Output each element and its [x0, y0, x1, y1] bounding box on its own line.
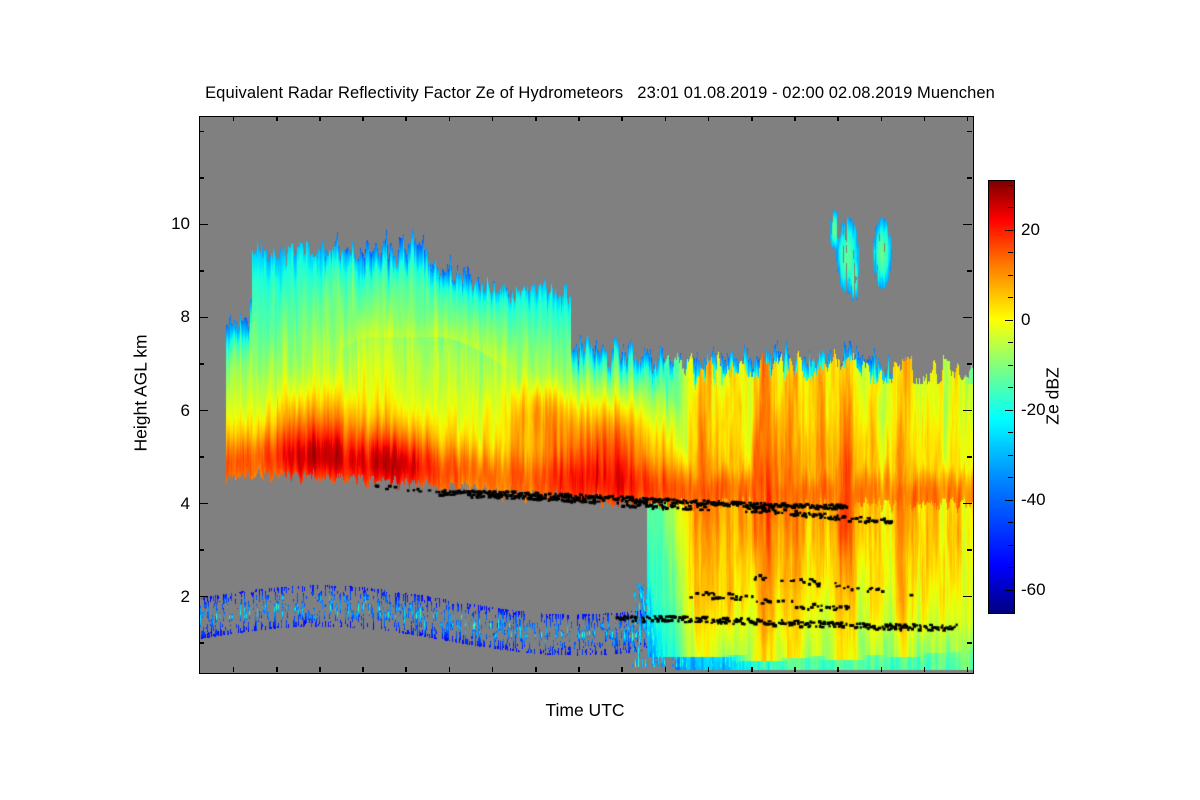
x-tick-top-128 [751, 116, 753, 121]
colorbar-tick--5 [1008, 342, 1013, 343]
x-tick-118 [708, 667, 710, 672]
y-tick-right-10 [963, 224, 972, 226]
y-tick-right-12 [967, 131, 972, 133]
colorbar-tick-0 [1005, 320, 1013, 321]
reflectivity-heatmap-canvas [200, 117, 973, 673]
colorbar [988, 180, 1015, 614]
x-tick-top-168 [924, 116, 926, 121]
y-tick-right-7 [967, 363, 972, 365]
x-tick-top-18 [276, 116, 278, 121]
colorbar-tick-30 [1008, 185, 1013, 186]
x-tick-top-38 [362, 116, 364, 121]
y-tick-4 [199, 503, 208, 505]
x-tick-168 [924, 667, 926, 672]
colorbar-tick--40 [1005, 500, 1013, 501]
colorbar-tick--25 [1008, 432, 1013, 433]
x-tick-58 [449, 667, 451, 672]
colorbar-label--40: -40 [1021, 490, 1046, 510]
x-axis-title: Time UTC [545, 700, 624, 721]
y-tick-8 [199, 317, 208, 319]
x-tick-88 [578, 667, 580, 672]
y-tick-3 [199, 549, 204, 551]
x-tick-48 [405, 667, 407, 672]
x-tick-top-158 [881, 116, 883, 121]
y-tick-7 [199, 363, 204, 365]
y-tick-11 [199, 177, 204, 179]
x-tick-top-8 [233, 116, 235, 121]
chart-title: Equivalent Radar Reflectivity Factor Ze … [0, 84, 1200, 103]
x-tick-top-178 [967, 116, 969, 121]
colorbar-tick--60 [1005, 590, 1013, 591]
y-tick-right-3 [967, 549, 972, 551]
x-tick-138 [794, 667, 796, 672]
x-tick-top-58 [449, 116, 451, 121]
x-tick-18 [276, 667, 278, 672]
y-tick-right-8 [963, 317, 972, 319]
x-tick-top-28 [319, 116, 321, 121]
x-tick-128 [751, 667, 753, 672]
x-tick-8 [233, 667, 235, 672]
x-tick-148 [837, 667, 839, 672]
x-tick-68 [492, 667, 494, 672]
y-tick-right-6 [963, 410, 972, 412]
x-tick-top-108 [665, 116, 667, 121]
x-tick-top-98 [621, 116, 623, 121]
colorbar-tick--10 [1008, 365, 1013, 366]
colorbar-tick-20 [1005, 230, 1013, 231]
y-tick-label-10: 10 [171, 215, 190, 232]
colorbar-tick--30 [1008, 455, 1013, 456]
colorbar-tick--20 [1005, 410, 1013, 411]
y-tick-label-6: 6 [181, 402, 190, 419]
y-tick-10 [199, 224, 208, 226]
x-tick-top-48 [405, 116, 407, 121]
x-tick-top-148 [837, 116, 839, 121]
colorbar-tick--35 [1008, 477, 1013, 478]
x-tick-top-68 [492, 116, 494, 121]
colorbar-label-0: 0 [1021, 310, 1030, 330]
y-tick-right-11 [967, 177, 972, 179]
x-tick-28 [319, 667, 321, 672]
colorbar-label--60: -60 [1021, 580, 1046, 600]
x-tick-98 [621, 667, 623, 672]
y-tick-label-2: 2 [181, 588, 190, 605]
plot-area [199, 116, 974, 674]
colorbar-tick-5 [1008, 297, 1013, 298]
x-tick-158 [881, 667, 883, 672]
x-tick-108 [665, 667, 667, 672]
y-axis-title: Height AGL km [131, 334, 152, 451]
y-tick-right-5 [967, 456, 972, 458]
x-tick-38 [362, 667, 364, 672]
y-tick-label-8: 8 [181, 308, 190, 325]
x-tick-top-118 [708, 116, 710, 121]
y-tick-5 [199, 456, 204, 458]
colorbar-tick--50 [1008, 545, 1013, 546]
colorbar-title: Ze dBZ [1043, 367, 1064, 424]
x-tick-top-78 [535, 116, 537, 121]
y-tick-1 [199, 642, 204, 644]
y-tick-6 [199, 410, 208, 412]
colorbar-tick-15 [1008, 252, 1013, 253]
x-tick-top-138 [794, 116, 796, 121]
y-tick-9 [199, 270, 204, 272]
colorbar-label-20: 20 [1021, 220, 1040, 240]
colorbar-tick-10 [1008, 275, 1013, 276]
y-tick-12 [199, 131, 204, 133]
y-tick-2 [199, 596, 208, 598]
colorbar-tick-25 [1008, 207, 1013, 208]
radar-reflectivity-figure: Equivalent Radar Reflectivity Factor Ze … [0, 0, 1200, 800]
y-tick-label-4: 4 [181, 495, 190, 512]
y-tick-right-4 [963, 503, 972, 505]
colorbar-tick--45 [1008, 522, 1013, 523]
colorbar-tick--55 [1008, 567, 1013, 568]
y-tick-right-2 [963, 596, 972, 598]
x-tick-78 [535, 667, 537, 672]
y-tick-right-1 [967, 642, 972, 644]
colorbar-tick--15 [1008, 387, 1013, 388]
y-tick-right-9 [967, 270, 972, 272]
x-tick-top-88 [578, 116, 580, 121]
x-tick-178 [967, 667, 969, 672]
